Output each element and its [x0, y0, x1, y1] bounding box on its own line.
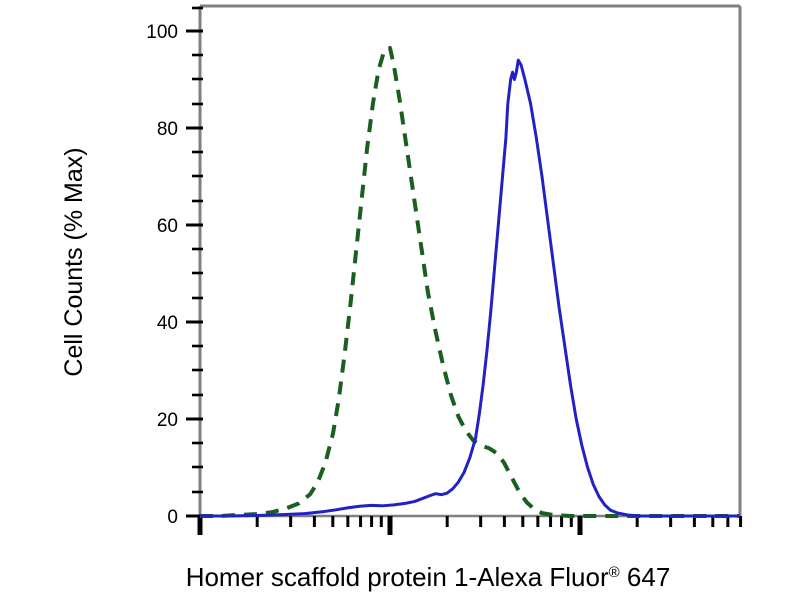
y-axis-tick-labels: 0 20 40 60 80 100	[146, 22, 178, 528]
registered-trademark-icon: ®	[609, 564, 620, 581]
chart-series-layer	[200, 48, 740, 516]
histogram-chart: 0 20 40 60 80 100 Cell Counts (% Max) Ho…	[0, 0, 800, 600]
plot-frame	[200, 6, 740, 516]
series-curve-1	[200, 60, 740, 516]
flow-cytometry-histogram-figure: 0 20 40 60 80 100 Cell Counts (% Max) Ho…	[0, 0, 800, 600]
y-tick-label-20: 20	[157, 410, 178, 431]
y-tick-label-40: 40	[157, 313, 178, 334]
x-axis-title-tail: 647	[620, 562, 671, 592]
y-tick-label-0: 0	[167, 507, 178, 528]
y-tick-label-100: 100	[146, 22, 178, 43]
series-curve-0	[200, 48, 740, 516]
y-tick-label-60: 60	[157, 216, 178, 237]
x-axis-log-ticks	[200, 516, 741, 535]
x-axis-title: Homer scaffold protein 1-Alexa Fluor® 64…	[186, 562, 671, 592]
y-axis-title: Cell Counts (% Max)	[60, 147, 88, 376]
x-axis-title-main: Homer scaffold protein 1-Alexa Fluor	[186, 562, 609, 592]
y-tick-label-80: 80	[157, 119, 178, 140]
